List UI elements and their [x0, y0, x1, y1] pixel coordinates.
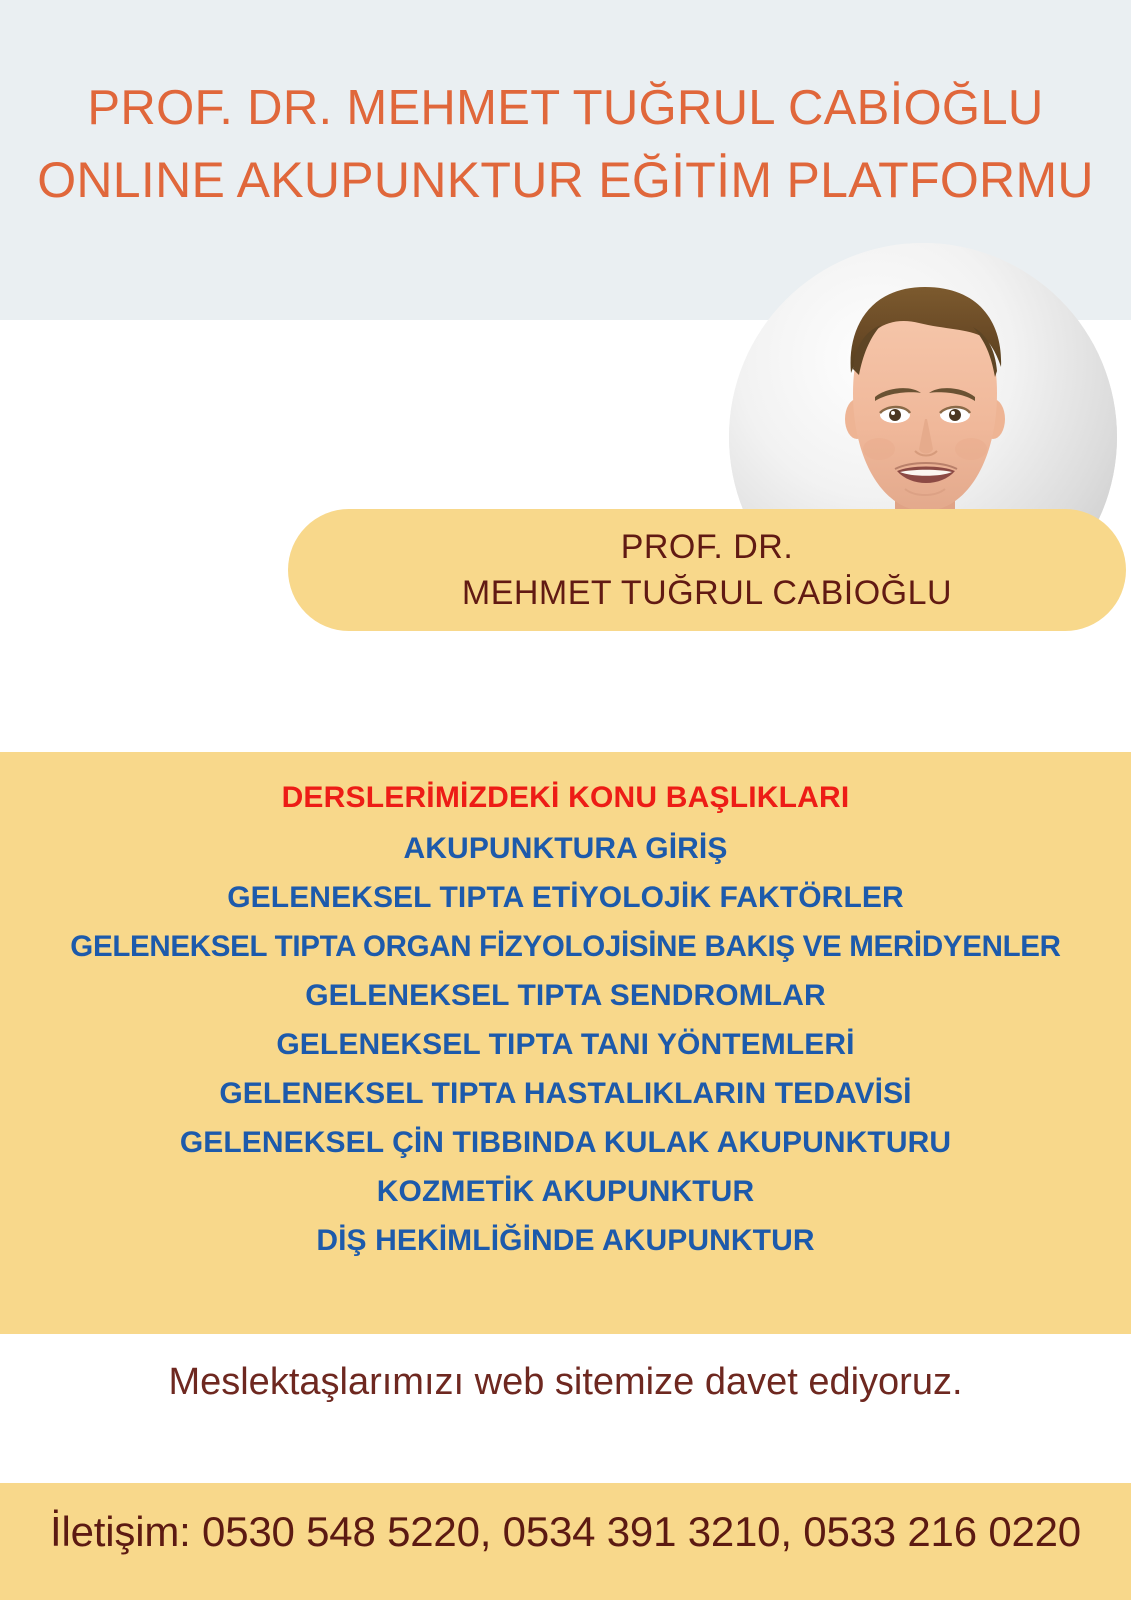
list-item: GELENEKSEL ÇİN TIBBINDA KULAK AKUPUNKTUR… [0, 1118, 1131, 1167]
list-item: GELENEKSEL TIPTA TANI YÖNTEMLERİ [0, 1020, 1131, 1069]
presenter-title: PROF. DR. [621, 524, 794, 570]
list-item: GELENEKSEL TIPTA HASTALIKLARIN TEDAVİSİ [0, 1069, 1131, 1118]
page-title-line-2: ONLINE AKUPUNKTUR EĞİTİM PLATFORMU [0, 144, 1131, 216]
page-title-line-1: PROF. DR. MEHMET TUĞRUL CABİOĞLU [0, 72, 1131, 144]
list-item: GELENEKSEL TIPTA ETİYOLOJİK FAKTÖRLER [0, 873, 1131, 922]
list-item: DİŞ HEKİMLİĞİNDE AKUPUNKTUR [0, 1216, 1131, 1265]
list-item: GELENEKSEL TIPTA ORGAN FİZYOLOJİSİNE BAK… [0, 922, 1131, 971]
poster-root: PROF. DR. MEHMET TUĞRUL CABİOĞLU ONLINE … [0, 0, 1131, 1600]
topics-panel: DERSLERİMİZDEKİ KONU BAŞLIKLARI AKUPUNKT… [0, 752, 1131, 1334]
presenter-name-badge: PROF. DR. MEHMET TUĞRUL CABİOĞLU [288, 509, 1126, 631]
topics-heading: DERSLERİMİZDEKİ KONU BAŞLIKLARI [0, 779, 1131, 817]
contact-phone-numbers: İletişim: 0530 548 5220, 0534 391 3210, … [0, 1503, 1131, 1561]
list-item: GELENEKSEL TIPTA SENDROMLAR [0, 971, 1131, 1020]
presenter-name: MEHMET TUĞRUL CABİOĞLU [462, 570, 952, 616]
topics-list: AKUPUNKTURA GİRİŞ GELENEKSEL TIPTA ETİYO… [0, 824, 1131, 1265]
invitation-text: Meslektaşlarımızı web sitemize davet edi… [0, 1355, 1131, 1409]
contact-band: İletişim: 0530 548 5220, 0534 391 3210, … [0, 1483, 1131, 1600]
list-item: AKUPUNKTURA GİRİŞ [0, 824, 1131, 873]
page-title: PROF. DR. MEHMET TUĞRUL CABİOĞLU ONLINE … [0, 72, 1131, 216]
list-item: KOZMETİK AKUPUNKTUR [0, 1167, 1131, 1216]
